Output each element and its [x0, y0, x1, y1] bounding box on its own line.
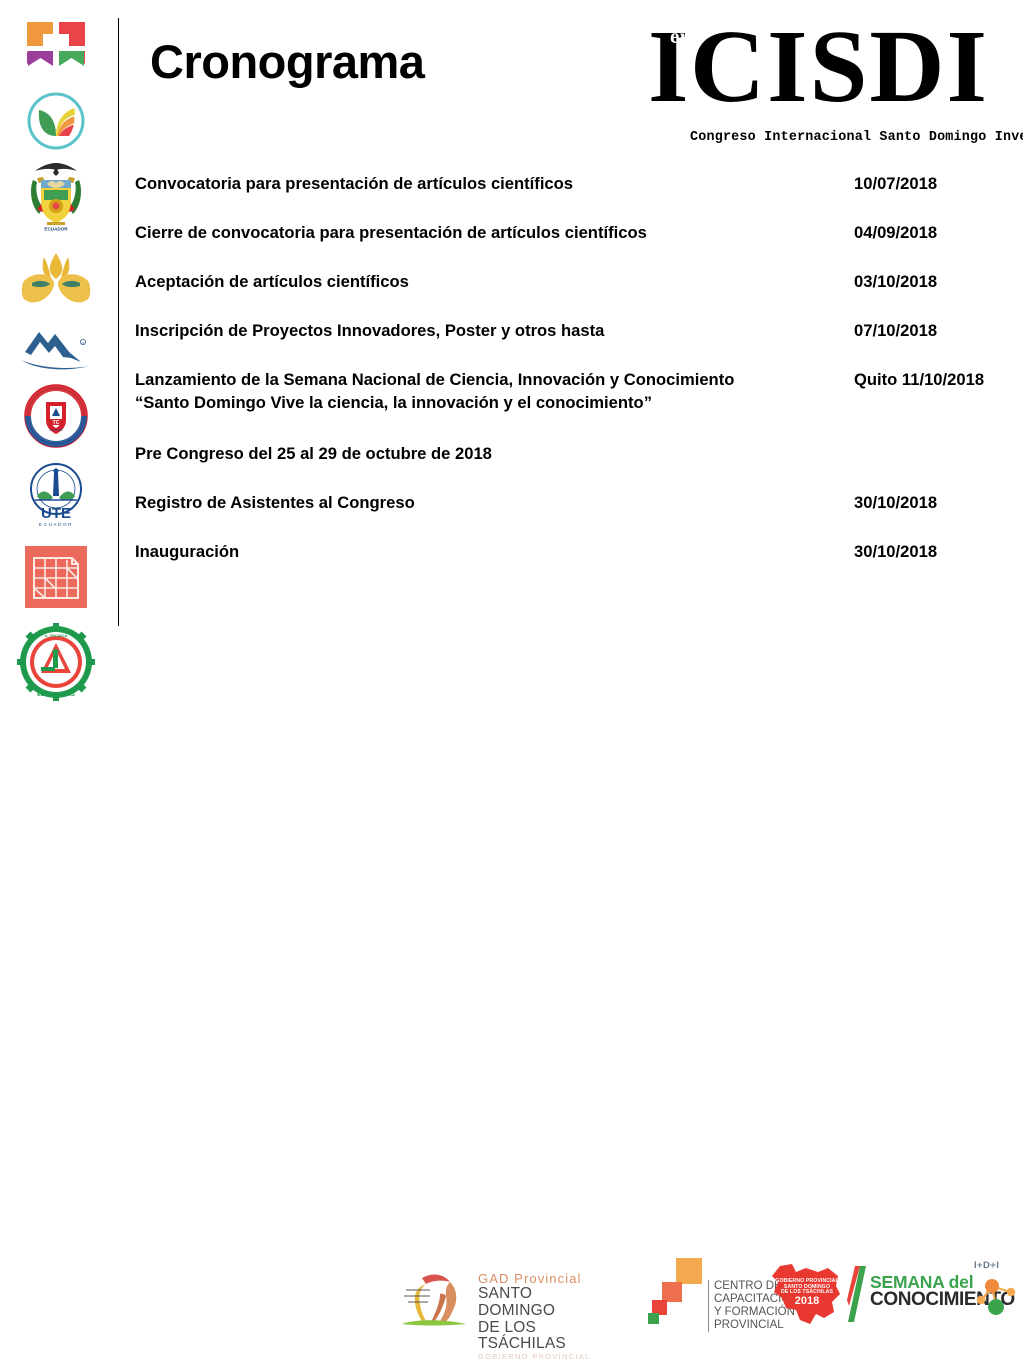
- sidebar-logo-column: ECUADOR R: [0, 0, 112, 716]
- sidebar-item-red-grid: [0, 544, 112, 610]
- mountain-icon: R: [19, 324, 93, 372]
- icisdi-congress-logo: I er CISDI Congreso Internacional Santo …: [648, 22, 1018, 140]
- schedule-item-label: Pre Congreso del 25 al 29 de octubre de …: [135, 442, 492, 465]
- provincial-map-logo: GOBIERNO PROVINCIAL SANTO DOMINGO DE LOS…: [766, 1262, 848, 1328]
- universidad-tecnica-cotopaxi-icon: TC 24-01-1995: [24, 384, 88, 448]
- utc-year: 24-01-1995: [49, 428, 63, 432]
- idi-label: I+D+I: [974, 1260, 999, 1271]
- map-caption-block: GOBIERNO PROVINCIAL SANTO DOMINGO DE LOS…: [775, 1279, 839, 1307]
- molecule-icon: [968, 1272, 1022, 1316]
- gad-line2: SANTO DOMINGO: [478, 1286, 610, 1319]
- utc-acronym: TC: [53, 420, 60, 426]
- schedule-item-label-line1: Lanzamiento de la Semana Nacional de Cie…: [135, 370, 734, 389]
- sidebar-item-universidad-tecnica-cotopaxi: TC 24-01-1995: [0, 382, 112, 450]
- sidebar-item-four-quadrant-cross: [0, 18, 112, 84]
- schedule-item-date: 30/10/2018: [854, 491, 937, 514]
- ccfp-squares-icon: [648, 1256, 704, 1330]
- schedule-item-date: 07/10/2018: [854, 319, 937, 342]
- schedule-item-label: Cierre de convocatoria para presentación…: [135, 221, 647, 244]
- ute-ecuador-icon: UTE ECUADOR: [23, 462, 89, 532]
- semana-conocimiento-logo: SEMANA del CONOCIMIENTO I+D+I: [846, 1260, 1023, 1330]
- schedule-item-label: Registro de Asistentes al Congreso: [135, 491, 415, 514]
- footer-logo-strip: GAD Provincial SANTO DOMINGO DE LOS TSÁC…: [0, 624, 1023, 716]
- map-year: 2018: [775, 1296, 839, 1308]
- ute-acronym: UTE: [41, 505, 71, 522]
- schedule-item-label: Inauguración: [135, 540, 239, 563]
- icisdi-tagline: Congreso Internacional Santo Domingo Inv…: [690, 130, 1023, 145]
- schedule-item-label: Convocatoria para presentación de artícu…: [135, 172, 573, 195]
- sidebar-item-hands-flame: [0, 248, 112, 312]
- sidebar-item-ute-ecuador: UTE ECUADOR: [0, 460, 112, 534]
- tsachila-face-icon: [400, 1268, 476, 1330]
- schedule-item-date: 03/10/2018: [854, 270, 937, 293]
- arms-caption: ECUADOR: [44, 227, 68, 232]
- gad-provincial-logo: GAD Provincial SANTO DOMINGO DE LOS TSÁC…: [400, 1264, 610, 1334]
- vertical-divider: [118, 18, 119, 626]
- sidebar-item-ecuador-coat-of-arms: ECUADOR: [0, 158, 112, 234]
- icisdi-wordmark: I er CISDI: [648, 22, 1018, 114]
- schedule-item-date: 30/10/2018: [854, 540, 937, 563]
- red-grid-icon: [25, 546, 87, 608]
- icisdi-ordinal: er: [670, 26, 689, 47]
- semana-slash-icon: [846, 1264, 870, 1326]
- ecuador-coat-of-arms-icon: ECUADOR: [23, 160, 89, 232]
- schedule-item-label: Aceptación de artículos científicos: [135, 270, 409, 293]
- gad-line1: GAD Provincial: [478, 1272, 610, 1286]
- centro-capacitacion-logo: CENTRO DE CAPACITACIÓN Y FORMACIÓN PROVI…: [648, 1256, 778, 1334]
- leaf-circle-icon: [25, 90, 87, 152]
- schedule-item-date: Quito 11/10/2018: [854, 368, 984, 391]
- schedule-item-label-line2: “Santo Domingo Vive la ciencia, la innov…: [135, 391, 734, 414]
- gad-line3: DE LOS TSÁCHILAS: [478, 1320, 610, 1353]
- four-quadrant-cross-icon: [25, 20, 87, 82]
- schedule-item-date: 10/07/2018: [854, 172, 937, 195]
- schedule-item-label: Lanzamiento de la Semana Nacional de Cie…: [135, 368, 734, 414]
- ute-country: ECUADOR: [39, 522, 73, 527]
- sidebar-item-mountain: R: [0, 320, 112, 376]
- hands-flame-icon: [20, 251, 92, 309]
- sidebar-item-leaf-circle: [0, 88, 112, 154]
- page-title: Cronograma: [150, 38, 424, 85]
- schedule-item-label: Inscripción de Proyectos Innovadores, Po…: [135, 319, 604, 342]
- icisdi-acronym-rest: CISDI: [690, 24, 989, 110]
- gad-line4: GOBIERNO PROVINCIAL: [478, 1353, 610, 1361]
- semana-line1-a: SEMANA: [870, 1272, 944, 1292]
- gad-text-block: GAD Provincial SANTO DOMINGO DE LOS TSÁC…: [478, 1272, 610, 1361]
- schedule-item-date: 04/09/2018: [854, 221, 937, 244]
